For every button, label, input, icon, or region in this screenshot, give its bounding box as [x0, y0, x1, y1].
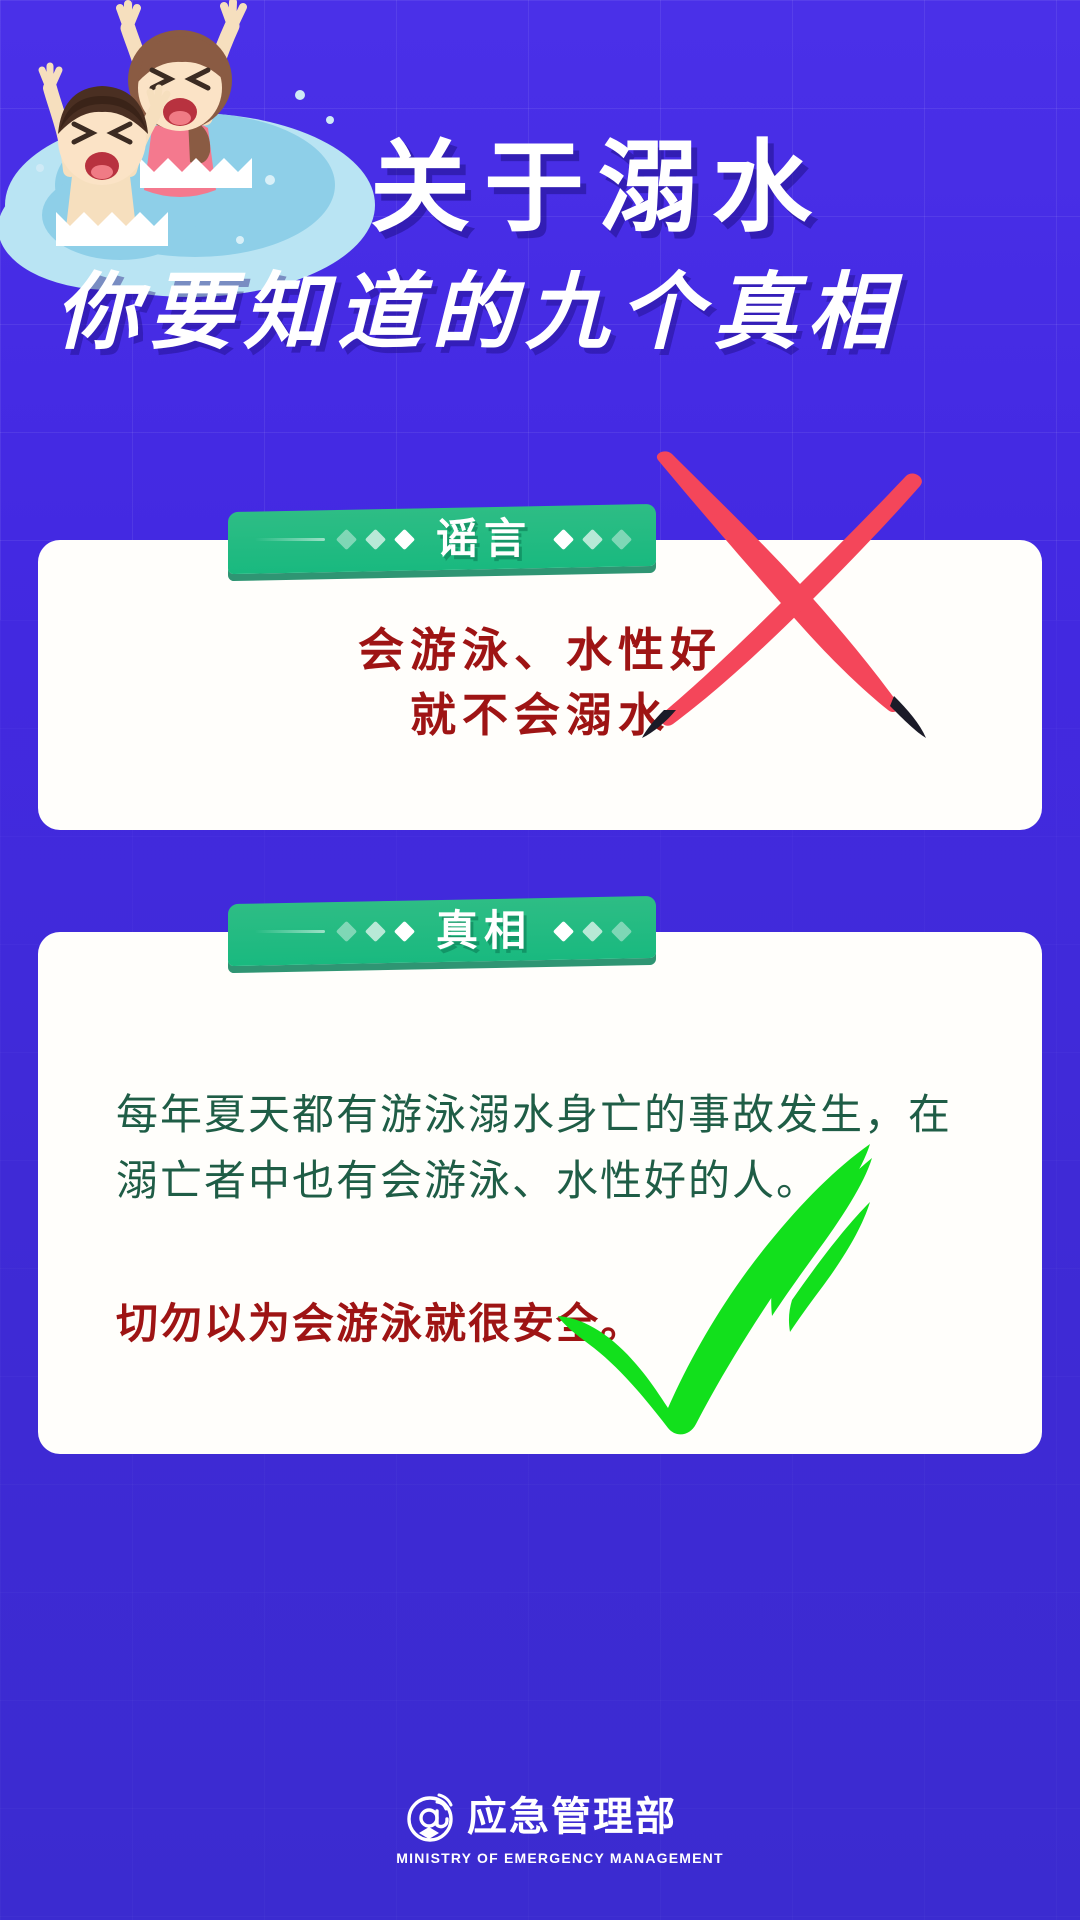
truth-body-text: 每年夏天都有游泳溺水身亡的事故发生，在溺亡者中也有会游泳、水性好的人。	[116, 1082, 974, 1215]
truth-card: 每年夏天都有游泳溺水身亡的事故发生，在溺亡者中也有会游泳、水性好的人。 切勿以为…	[38, 932, 1042, 1454]
badge-rumor: 谣言	[228, 504, 656, 574]
rumor-line-2: 就不会溺水	[38, 683, 1042, 748]
diamond-icon	[611, 528, 632, 549]
badge-truth-label: 真相	[426, 910, 542, 952]
diamond-icon	[611, 920, 632, 941]
rumor-text: 会游泳、水性好 就不会溺水	[38, 618, 1042, 749]
badge-line-left-icon	[255, 930, 325, 933]
diamond-icon	[336, 528, 357, 549]
badge-truth-inner: 真相	[255, 910, 629, 952]
page-title: 关于溺水	[370, 138, 1050, 238]
footer-brand-row: 应急管理部	[403, 1789, 677, 1845]
diamond-icon	[582, 920, 603, 941]
footer: 应急管理部 MINISTRY OF EMERGENCY MANAGEMENT	[0, 1789, 1080, 1866]
diamond-icon	[394, 920, 415, 941]
rumor-card: 会游泳、水性好 就不会溺水	[38, 540, 1042, 830]
truth-warning-text: 切勿以为会游泳就很安全。	[116, 1292, 974, 1355]
footer-org-english: MINISTRY OF EMERGENCY MANAGEMENT	[396, 1850, 724, 1866]
page-subtitle: 你要知道的九个真相	[55, 270, 1035, 354]
badge-rumor-label: 谣言	[426, 518, 542, 560]
diamond-icon	[365, 920, 386, 941]
diamond-icon	[582, 528, 603, 549]
footer-org-name: 应急管理部	[467, 1797, 677, 1837]
badge-rumor-inner: 谣言	[255, 518, 629, 560]
poster-root: 关于溺水 你要知道的九个真相 谣言 会游泳、水性好 就不会溺水	[0, 0, 1080, 1920]
badge-truth: 真相	[228, 896, 656, 966]
diamond-icon	[365, 528, 386, 549]
diamond-icon	[553, 528, 574, 549]
at-sign-emergency-logo-icon	[403, 1789, 459, 1845]
rumor-line-1: 会游泳、水性好	[38, 618, 1042, 683]
badge-line-left-icon	[255, 538, 325, 541]
diamond-icon	[336, 920, 357, 941]
diamond-icon	[394, 528, 415, 549]
diamond-icon	[553, 920, 574, 941]
